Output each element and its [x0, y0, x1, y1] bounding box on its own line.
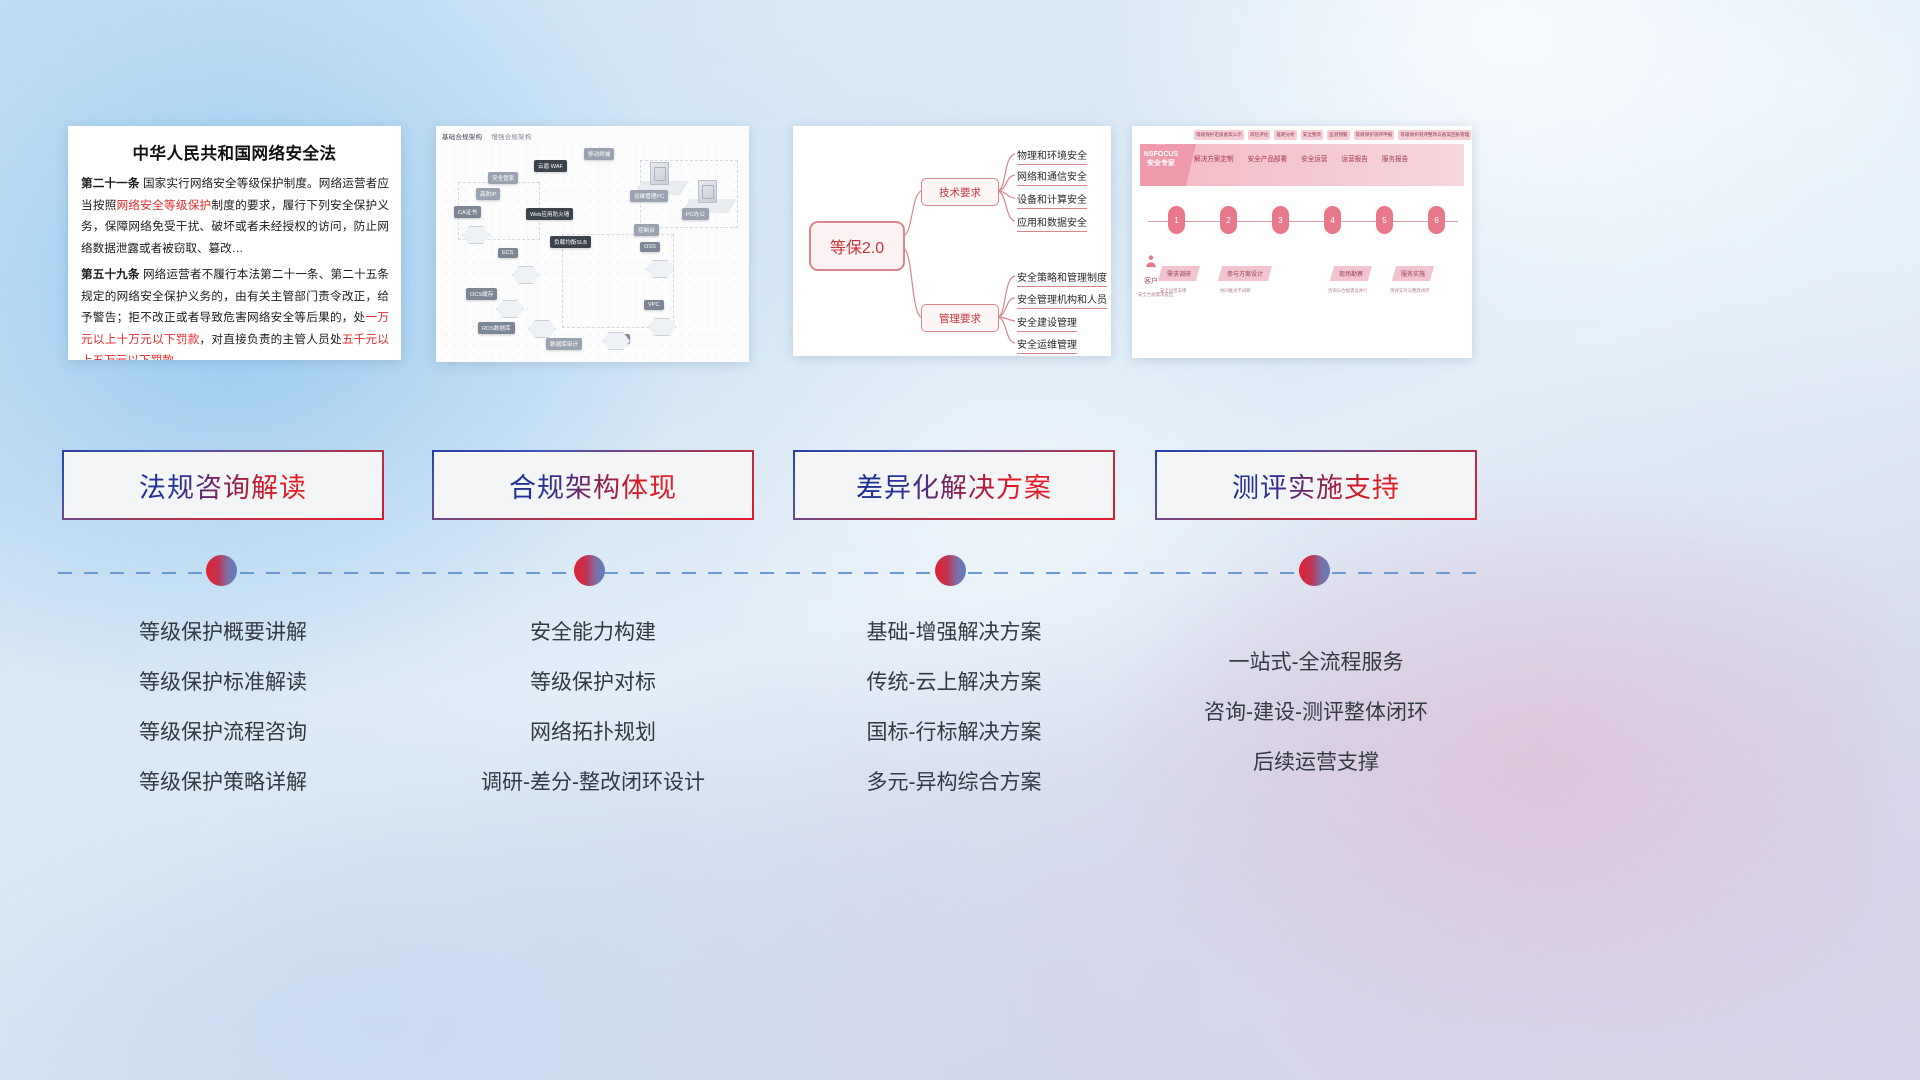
nsfocus-note-3: 测评支持与整改闭环 [1390, 288, 1430, 294]
list-item: 等级保护策略详解 [62, 758, 384, 808]
architecture-node-log: 数据库审计 [546, 338, 582, 350]
nsfocus-ribbon [1140, 144, 1464, 186]
nsfocus-customer: 客户 [1144, 276, 1158, 286]
nsfocus-customer-sub: 安全合规需求提出 [1138, 292, 1173, 298]
nsfocus-parallelogram-1-label: 参与方案设计 [1227, 269, 1263, 278]
architecture-node-oss: VPC [644, 300, 664, 310]
timeline-dashed-line [58, 572, 1478, 574]
architecture-node-ecs: ECS [498, 248, 518, 258]
timeline-dot-1[interactable] [206, 555, 237, 586]
architecture-node-mobile: 移动终端 [584, 148, 614, 160]
nsfocus-service-3: 运营报告 [1342, 153, 1368, 163]
nsfocus-step-5: 5 [1376, 206, 1393, 234]
architecture-tab-basic[interactable]: 基础合规架构 [442, 134, 482, 141]
nsfocus-step-6: 6 [1428, 206, 1445, 234]
nsfocus-parallelogram-3: 服务实施 [1392, 266, 1434, 281]
nsfocus-tag-list: 等级保护定级备案公示 风险评估 差距分析 安全整改 监测预警 等级保护测评申报 … [1194, 130, 1460, 140]
list-item: 等级保护概要讲解 [62, 608, 384, 658]
architecture-node-slb: 负载均衡SLB [550, 236, 591, 248]
nsfocus-tag-6: 等级保护测评整改与备案回执管理 [1398, 130, 1471, 140]
architecture-label-user-pc: PC办公 [682, 208, 709, 220]
label-text-3: 差异化解决方案 [856, 466, 1052, 505]
mind-map-leaf-tech-1: 物理和环境安全 [1017, 147, 1087, 165]
card-mind-map: 等保2.0 技术要求 管理要求 物理和环境安全 网络和通信安全 设备和计算安全 … [793, 126, 1111, 356]
detail-list-4: 一站式-全流程服务 咨询-建设-测评整体闭环 后续运营支撑 [1155, 638, 1477, 788]
nsfocus-step-4: 4 [1324, 206, 1341, 234]
mind-map-leaf-tech-2: 网络和通信安全 [1017, 168, 1087, 186]
nsfocus-tag-1: 风险评估 [1248, 130, 1270, 140]
list-item: 多元-异构综合方案 [793, 758, 1115, 808]
nsfocus-brand-name: NSFOCUS [1144, 151, 1178, 158]
architecture-node-dip: 高防IP [476, 188, 500, 200]
card-architecture-diagram: 基础合规架构增强合规架构 高防IP CA证书 云盾 WAF 安全管家 运维管理P… [436, 126, 749, 362]
architecture-node-sec: 安全管家 [488, 172, 518, 184]
list-item: 传统-云上解决方案 [793, 658, 1115, 708]
list-item: 等级保护对标 [432, 658, 754, 708]
nsfocus-parallelogram-1: 参与方案设计 [1218, 266, 1272, 281]
list-item: 网络拓扑规划 [432, 708, 754, 758]
nsfocus-parallelogram-0: 需求调研 [1158, 266, 1200, 281]
architecture-tabs: 基础合规架构增强合规架构 [442, 131, 540, 141]
detail-list-3: 基础-增强解决方案 传统-云上解决方案 国标-行标解决方案 多元-异构综合方案 [793, 608, 1115, 808]
detail-list-2: 安全能力构建 等级保护对标 网络拓扑规划 调研-差分-整改闭环设计 [432, 608, 754, 808]
law-article-59-label: 第五十九条 [81, 268, 140, 281]
list-item: 咨询-建设-测评整体闭环 [1155, 688, 1477, 738]
law-article-21: 第二十一条 国家实行网络安全等级保护制度。网络运营者应当按照网络安全等级保护制度… [81, 173, 389, 259]
law-article-21-highlight: 网络安全等级保护 [117, 199, 212, 212]
nsfocus-customer-label: 客户 [1144, 278, 1158, 285]
architecture-tab-enhanced[interactable]: 增强合规架构 [491, 134, 531, 141]
card-law-document: 中华人民共和国网络安全法 第二十一条 国家实行网络安全等级保护制度。网络运营者应… [68, 126, 401, 360]
nsfocus-parallelogram-2-label: 现场勘察 [1339, 269, 1363, 278]
architecture-node-ca: CA证书 [454, 206, 481, 218]
nsfocus-tag-3: 安全整改 [1301, 130, 1323, 140]
list-item: 等级保护标准解读 [62, 658, 384, 708]
nsfocus-service-4: 服务报告 [1382, 153, 1408, 163]
mind-map-canvas: 等保2.0 技术要求 管理要求 物理和环境安全 网络和通信安全 设备和计算安全 … [793, 126, 1111, 356]
nsfocus-service-0: 解决方案定制 [1194, 153, 1234, 163]
law-title: 中华人民共和国网络安全法 [68, 140, 401, 164]
mind-map-leaf-mgmt-4: 安全运维管理 [1017, 336, 1077, 354]
label-text-1: 法规咨询解读 [139, 466, 307, 505]
architecture-node-cdn: OSS [640, 242, 660, 252]
mind-map-branch-technical: 技术要求 [921, 178, 999, 206]
nsfocus-tag-5: 等级保护测评申报 [1354, 130, 1395, 140]
architecture-node-waf-top: 云盾 WAF [534, 160, 567, 172]
person-icon [1154, 132, 1167, 145]
mind-map-leaf-tech-3: 设备和计算安全 [1017, 191, 1087, 209]
architecture-label-admin-pc: 运维管理PC [630, 190, 668, 202]
list-item: 国标-行标解决方案 [793, 708, 1115, 758]
timeline-dot-2[interactable] [574, 555, 605, 586]
list-item: 安全能力构建 [432, 608, 754, 658]
nsfocus-service-2: 安全运营 [1301, 153, 1327, 163]
card-row: 中华人民共和国网络安全法 第二十一条 国家实行网络安全等级保护制度。网络运营者应… [0, 126, 1920, 366]
card-nsfocus-roadmap: NSFOCUS 安全专家 等级保护定级备案公示 风险评估 差距分析 安全整改 监… [1132, 126, 1472, 358]
detail-list-1: 等级保护概要讲解 等级保护标准解读 等级保护流程咨询 等级保护策略详解 [62, 608, 384, 808]
list-item: 后续运营支撑 [1155, 738, 1477, 788]
nsfocus-parallelogram-3-label: 服务实施 [1401, 269, 1425, 278]
law-article-59: 第五十九条 网络运营者不履行本法第二十一条、第二十五条规定的网络安全保护义务的，… [81, 264, 389, 360]
nsfocus-parallelogram-2: 现场勘察 [1330, 266, 1372, 281]
label-box-regulation-consulting[interactable]: 法规咨询解读 [62, 450, 384, 520]
nsfocus-brand-sub: 安全专家 [1147, 160, 1175, 167]
nsfocus-tag-4: 监测预警 [1327, 130, 1349, 140]
nsfocus-step-3: 3 [1272, 206, 1289, 234]
label-text-4: 测评实施支持 [1232, 466, 1400, 505]
nsfocus-tag-2: 差距分析 [1274, 130, 1296, 140]
list-item: 基础-增强解决方案 [793, 608, 1115, 658]
label-box-compliance-architecture[interactable]: 合规架构体现 [432, 450, 754, 520]
architecture-canvas: 基础合规架构增强合规架构 高防IP CA证书 云盾 WAF 安全管家 运维管理P… [436, 126, 749, 362]
nsfocus-service-list: 解决方案定制 安全产品部署 安全运营 运营报告 服务报告 [1194, 153, 1464, 163]
mind-map-leaf-mgmt-3: 安全建设管理 [1017, 314, 1077, 332]
mind-map-leaf-tech-4: 应用和数据安全 [1017, 214, 1087, 232]
list-item: 一站式-全流程服务 [1155, 638, 1477, 688]
architecture-node-console: 控制台 [634, 224, 659, 236]
mind-map-leaf-mgmt-2: 安全管理机构和人员 [1017, 291, 1107, 309]
customer-icon [1144, 254, 1158, 268]
timeline-dot-4[interactable] [1299, 555, 1330, 586]
timeline [58, 563, 1478, 583]
nsfocus-canvas: NSFOCUS 安全专家 等级保护定级备案公示 风险评估 差距分析 安全整改 监… [1132, 126, 1472, 358]
architecture-node-waf: Web应用防火墙 [526, 208, 573, 220]
architecture-node-rds: RDS数据库 [478, 322, 515, 334]
label-text-2: 合规架构体现 [509, 466, 677, 505]
nsfocus-step-1: 1 [1168, 206, 1185, 234]
nsfocus-brand: NSFOCUS 安全专家 [1139, 150, 1183, 168]
nsfocus-note-2: 咨询与合规建设并行 [1328, 288, 1368, 294]
nsfocus-tag-0: 等级保护定级备案公示 [1194, 130, 1244, 140]
law-article-59-text-b: ，对直接负责的主管人员处 [200, 333, 342, 346]
nsfocus-service-1: 安全产品部署 [1248, 153, 1288, 163]
timeline-dot-3[interactable] [935, 555, 966, 586]
label-row: 法规咨询解读 合规架构体现 差异化解决方案 测评实施支持 [0, 450, 1920, 522]
nsfocus-step-2: 2 [1220, 206, 1237, 234]
list-item: 调研-差分-整改闭环设计 [432, 758, 754, 808]
architecture-device-user-pc [698, 180, 717, 203]
label-box-differentiated-solution[interactable]: 差异化解决方案 [793, 450, 1115, 520]
nsfocus-parallelogram-0-label: 需求调研 [1167, 269, 1191, 278]
architecture-body: 高防IP CA证书 云盾 WAF 安全管家 运维管理PC PC办公 移动终端 W… [442, 142, 743, 356]
architecture-node-ocs: OCS缓存 [466, 288, 497, 300]
list-item: 等级保护流程咨询 [62, 708, 384, 758]
architecture-device-admin-pc [650, 162, 669, 185]
mind-map-leaf-mgmt-1: 安全策略和管理制度 [1017, 269, 1107, 287]
mind-map-root: 等保2.0 [809, 221, 905, 271]
nsfocus-timeline-axis [1148, 221, 1458, 222]
label-box-evaluation-support[interactable]: 测评实施支持 [1155, 450, 1477, 520]
mind-map-branch-management: 管理要求 [921, 304, 999, 332]
law-body: 第二十一条 国家实行网络安全等级保护制度。网络运营者应当按照网络安全等级保护制度… [68, 173, 401, 360]
law-article-21-label: 第二十一条 [81, 177, 140, 190]
nsfocus-note-1: 协同推进不间断 [1220, 288, 1251, 294]
